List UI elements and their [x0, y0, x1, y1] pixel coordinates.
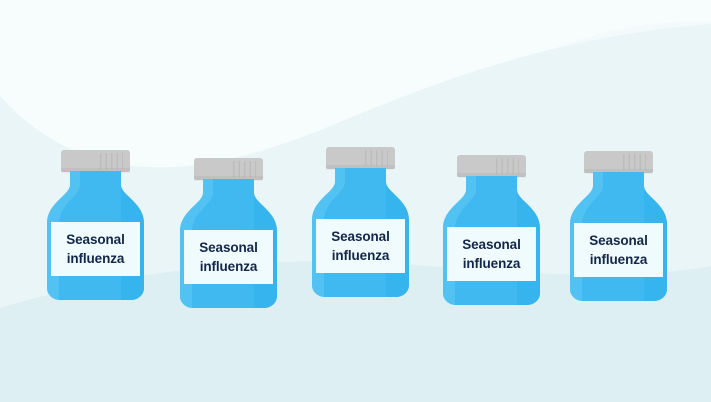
vial-label-line-2: influenza: [463, 254, 521, 273]
vial-cap: [326, 147, 395, 169]
vial-label-line-2: influenza: [590, 250, 648, 269]
vial-cap: [61, 150, 130, 172]
vial-cap: [584, 151, 653, 173]
vial-label-line-2: influenza: [67, 249, 125, 268]
cap-ridges-icon: [623, 154, 646, 170]
vaccine-vial[interactable]: Seasonal influenza: [180, 158, 277, 308]
illustration-canvas: Seasonal influenza Seasonal influenza: [0, 0, 711, 402]
vaccine-vial[interactable]: Seasonal influenza: [443, 155, 540, 305]
vaccine-vial[interactable]: Seasonal influenza: [47, 150, 144, 300]
vial-label-line-1: Seasonal: [462, 235, 520, 254]
vial-label: Seasonal influenza: [51, 222, 140, 276]
vial-cap: [457, 155, 526, 177]
vial-label: Seasonal influenza: [184, 230, 273, 284]
vial-label-line-2: influenza: [200, 257, 258, 276]
vial-label-line-1: Seasonal: [199, 238, 257, 257]
vial-cap: [194, 158, 263, 180]
vial-label-line-1: Seasonal: [589, 231, 647, 250]
cap-ridges-icon: [233, 161, 256, 177]
cap-ridges-icon: [100, 153, 123, 169]
vial-label-line-2: influenza: [332, 246, 390, 265]
vial-label: Seasonal influenza: [574, 223, 663, 277]
vial-label: Seasonal influenza: [316, 219, 405, 273]
vaccine-vial[interactable]: Seasonal influenza: [570, 151, 667, 301]
vaccine-vial[interactable]: Seasonal influenza: [312, 147, 409, 297]
vial-label-line-1: Seasonal: [331, 227, 389, 246]
cap-ridges-icon: [496, 158, 519, 174]
vial-row: Seasonal influenza Seasonal influenza: [0, 0, 711, 402]
cap-ridges-icon: [365, 150, 388, 166]
vial-label: Seasonal influenza: [447, 227, 536, 281]
vial-label-line-1: Seasonal: [66, 230, 124, 249]
